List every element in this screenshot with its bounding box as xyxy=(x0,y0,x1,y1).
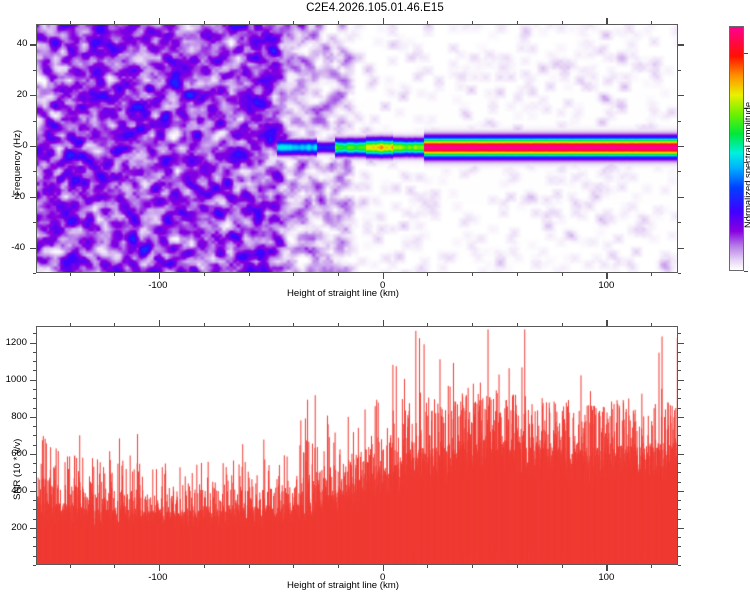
axis-tick-label: 20 xyxy=(17,89,28,100)
axis-tick xyxy=(33,556,36,557)
axis-tick xyxy=(70,273,71,276)
axis-tick xyxy=(678,528,684,529)
axis-tick xyxy=(70,21,71,24)
spectrogram-ylabel: Frequency (Hz) xyxy=(12,130,23,196)
axis-tick xyxy=(472,323,473,326)
axis-tick xyxy=(678,454,684,455)
axis-tick xyxy=(678,426,681,427)
axis-tick-label: -100 xyxy=(148,280,167,291)
axis-tick xyxy=(114,21,115,24)
axis-tick xyxy=(293,565,294,568)
axis-tick xyxy=(30,95,36,96)
axis-tick xyxy=(159,18,160,24)
axis-tick xyxy=(678,370,681,371)
axis-tick xyxy=(70,323,71,326)
axis-tick xyxy=(70,565,71,568)
axis-tick-label: 40 xyxy=(17,38,28,49)
axis-tick xyxy=(33,519,36,520)
axis-tick xyxy=(383,320,384,326)
axis-tick xyxy=(33,565,36,566)
axis-tick xyxy=(33,482,36,483)
axis-tick xyxy=(114,273,115,276)
axis-tick xyxy=(30,491,36,492)
axis-tick xyxy=(517,21,518,24)
axis-tick xyxy=(204,273,205,276)
axis-tick xyxy=(651,21,652,24)
axis-tick xyxy=(678,361,681,362)
axis-tick-label: 100 xyxy=(598,572,614,583)
axis-tick xyxy=(33,121,36,122)
axis-tick xyxy=(678,44,684,45)
snr-trace xyxy=(37,327,678,565)
axis-tick xyxy=(606,320,607,326)
axis-tick xyxy=(678,519,681,520)
axis-tick xyxy=(678,380,684,381)
axis-tick xyxy=(517,323,518,326)
snr-panel xyxy=(36,326,678,565)
axis-tick xyxy=(651,323,652,326)
axis-tick xyxy=(114,323,115,326)
axis-tick xyxy=(678,482,681,483)
axis-tick xyxy=(678,343,684,344)
spectrogram-panel xyxy=(36,24,678,273)
axis-tick xyxy=(204,21,205,24)
axis-tick xyxy=(427,21,428,24)
axis-tick xyxy=(249,273,250,276)
axis-tick-label: 1200 xyxy=(6,337,27,348)
axis-tick xyxy=(33,472,36,473)
axis-tick xyxy=(33,463,36,464)
axis-tick xyxy=(33,435,36,436)
axis-tick xyxy=(33,408,36,409)
colorbar-label: Normalized spectral amplitude xyxy=(742,102,750,228)
axis-tick xyxy=(249,21,250,24)
snr-xlabel: Height of straight line (km) xyxy=(287,580,399,591)
axis-tick xyxy=(33,361,36,362)
axis-tick xyxy=(678,537,681,538)
axis-tick-label: 100 xyxy=(598,280,614,291)
axis-tick xyxy=(678,491,684,492)
axis-tick-label: -40 xyxy=(11,242,25,253)
figure-root: C2E4.2026.105.01.46.E15 -100010040200-20… xyxy=(0,0,750,600)
axis-tick xyxy=(472,273,473,276)
axis-tick xyxy=(383,273,384,279)
axis-tick xyxy=(678,445,681,446)
axis-tick xyxy=(427,273,428,276)
axis-tick xyxy=(204,323,205,326)
axis-tick xyxy=(678,408,681,409)
axis-tick xyxy=(293,323,294,326)
axis-tick xyxy=(678,146,684,147)
axis-tick xyxy=(427,323,428,326)
axis-tick xyxy=(159,273,160,279)
axis-tick xyxy=(159,320,160,326)
axis-tick xyxy=(33,171,36,172)
axis-tick xyxy=(472,21,473,24)
axis-tick xyxy=(30,146,36,147)
axis-tick xyxy=(33,445,36,446)
axis-tick xyxy=(33,537,36,538)
axis-tick xyxy=(30,454,36,455)
axis-tick xyxy=(678,352,681,353)
axis-tick-label: 1000 xyxy=(6,374,27,385)
axis-tick xyxy=(562,323,563,326)
axis-tick xyxy=(678,435,681,436)
axis-tick xyxy=(562,273,563,276)
axis-tick xyxy=(744,271,748,272)
axis-tick xyxy=(33,389,36,390)
axis-tick xyxy=(33,70,36,71)
axis-tick xyxy=(338,273,339,276)
axis-tick xyxy=(33,333,36,334)
axis-tick xyxy=(472,565,473,568)
axis-tick-label: 200 xyxy=(11,522,27,533)
axis-tick xyxy=(30,197,36,198)
axis-tick xyxy=(678,389,681,390)
axis-tick xyxy=(517,565,518,568)
axis-tick xyxy=(517,273,518,276)
axis-tick xyxy=(678,463,681,464)
axis-tick xyxy=(678,500,681,501)
axis-tick xyxy=(678,95,684,96)
axis-tick xyxy=(678,70,681,71)
axis-tick xyxy=(651,565,652,568)
axis-tick xyxy=(678,197,684,198)
axis-tick xyxy=(33,546,36,547)
axis-tick xyxy=(744,53,748,54)
axis-tick xyxy=(678,273,681,274)
axis-tick xyxy=(30,417,36,418)
axis-tick xyxy=(678,509,681,510)
axis-tick xyxy=(427,565,428,568)
axis-tick xyxy=(33,500,36,501)
figure-title: C2E4.2026.105.01.46.E15 xyxy=(0,2,750,14)
axis-tick xyxy=(30,44,36,45)
axis-tick xyxy=(33,352,36,353)
axis-tick xyxy=(33,273,36,274)
axis-tick xyxy=(30,380,36,381)
axis-tick xyxy=(249,565,250,568)
axis-tick xyxy=(30,528,36,529)
axis-tick xyxy=(651,273,652,276)
axis-tick xyxy=(606,273,607,279)
axis-tick xyxy=(33,398,36,399)
axis-tick xyxy=(678,417,684,418)
axis-tick xyxy=(338,323,339,326)
axis-tick xyxy=(562,21,563,24)
axis-tick-label: 0 xyxy=(22,140,27,151)
axis-tick xyxy=(338,565,339,568)
axis-tick xyxy=(338,21,339,24)
axis-tick xyxy=(33,370,36,371)
axis-tick xyxy=(678,121,681,122)
axis-tick xyxy=(678,248,684,249)
axis-tick xyxy=(33,426,36,427)
axis-tick xyxy=(678,546,681,547)
axis-tick xyxy=(678,333,681,334)
axis-tick xyxy=(159,565,160,571)
spectrogram-xlabel: Height of straight line (km) xyxy=(287,288,399,299)
axis-tick xyxy=(678,398,681,399)
axis-tick xyxy=(678,565,681,566)
axis-tick xyxy=(30,343,36,344)
axis-tick xyxy=(30,248,36,249)
axis-tick xyxy=(383,565,384,571)
axis-tick xyxy=(606,18,607,24)
axis-tick xyxy=(562,565,563,568)
spectrogram-image xyxy=(37,25,678,273)
axis-tick xyxy=(678,222,681,223)
axis-tick xyxy=(114,565,115,568)
axis-tick xyxy=(383,18,384,24)
axis-tick xyxy=(606,565,607,571)
snr-ylabel: SNR (10 * v/v) xyxy=(12,439,23,500)
axis-tick-label: -100 xyxy=(148,572,167,583)
axis-tick xyxy=(293,273,294,276)
axis-tick xyxy=(678,472,681,473)
axis-tick-label: 800 xyxy=(11,411,27,422)
axis-tick xyxy=(293,21,294,24)
axis-tick xyxy=(33,509,36,510)
axis-tick xyxy=(678,556,681,557)
axis-tick xyxy=(33,222,36,223)
axis-tick xyxy=(678,171,681,172)
axis-tick xyxy=(249,323,250,326)
axis-tick xyxy=(204,565,205,568)
